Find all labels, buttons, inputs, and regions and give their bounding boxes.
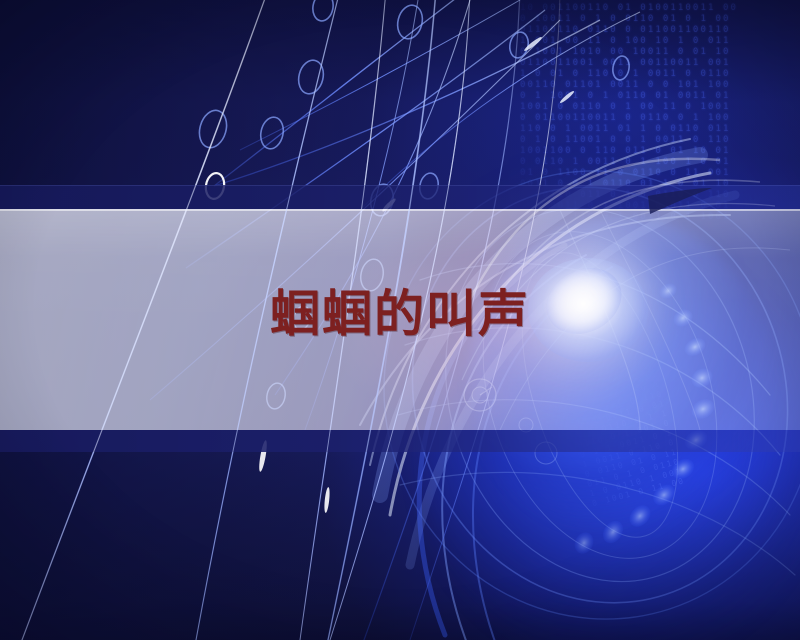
slide-canvas: 0110 0101 00110 0 1010011 00110 00110011… [0, 0, 800, 640]
band-light-highlight [0, 209, 800, 211]
page-title: 蝈蝈的叫声 [0, 286, 800, 342]
band-dark-top [0, 185, 800, 209]
band-dark-bottom [0, 430, 800, 452]
